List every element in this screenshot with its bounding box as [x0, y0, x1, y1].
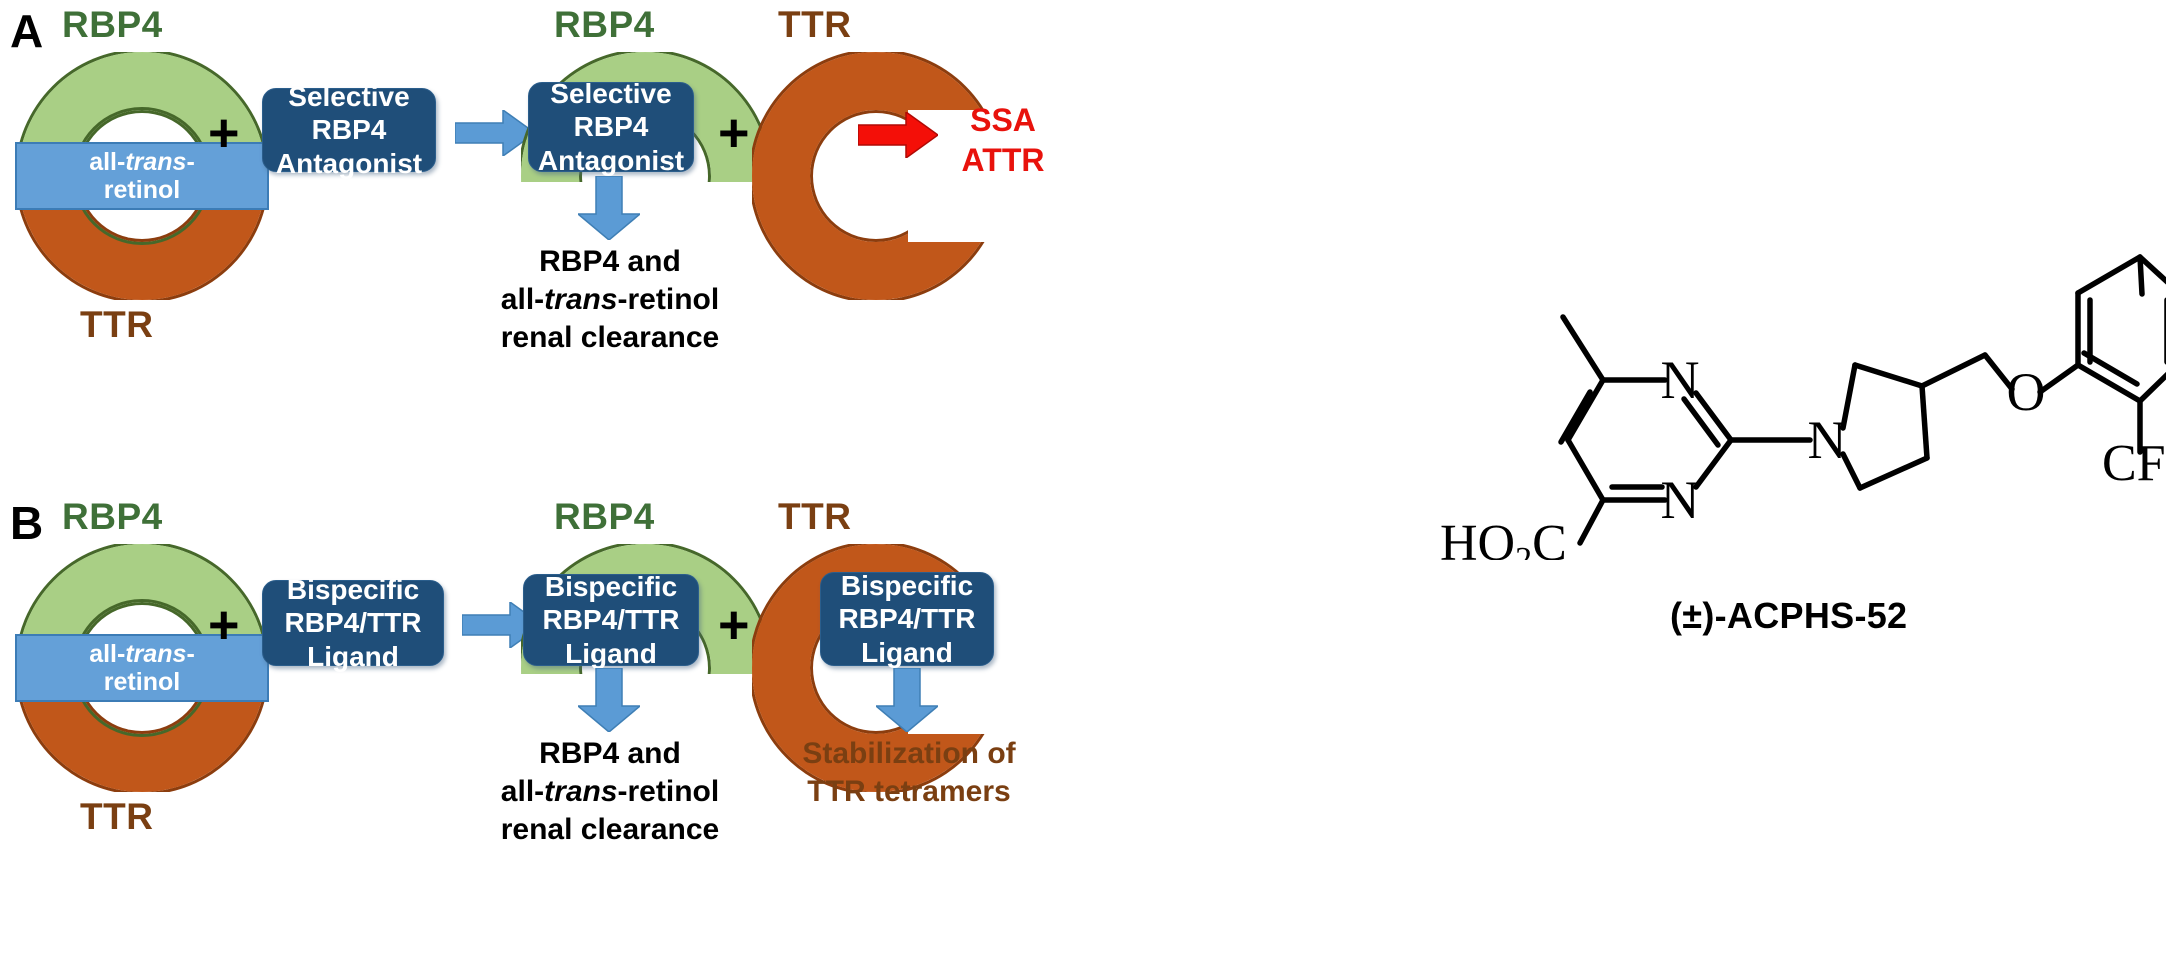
outcome-line-1: RBP4 and: [539, 737, 681, 770]
bound-drug-line-1: Bispecific: [545, 571, 677, 602]
drug-line-2: RBP4/TTR: [285, 607, 422, 638]
bound-drug-line-3: Ligand: [565, 638, 657, 669]
retinol-line2: retinol: [104, 668, 180, 696]
retinol-suffix: -: [186, 640, 194, 668]
panel-a-free-ttr-label: TTR: [778, 4, 851, 46]
outcome-line-1: RBP4 and: [539, 245, 681, 278]
panel-b-rbp4-ttr-complex: all-trans- retinol: [18, 544, 266, 792]
panel-b-bound-bispecific-box[interactable]: Bispecific RBP4/TTR Ligand: [523, 574, 699, 666]
panel-b-free-ttr-label: TTR: [778, 496, 851, 538]
panel-b-outcome-ttr-stabilization: Stabilization of TTR tetramers: [778, 735, 1040, 811]
outcome-line-2-suffix: -retinol: [618, 775, 720, 808]
stabilization-line-1: Stabilization of: [802, 737, 1015, 770]
panel-b-bound-rbp4-label: RBP4: [554, 496, 655, 538]
drug-line-1: Bispecific: [287, 574, 419, 605]
panel-a-plus-2: +: [718, 106, 750, 160]
acphs-52-structure: N N N O HO2C CF3: [1440, 140, 2166, 560]
outcome-line-2-italic: trans: [544, 283, 617, 316]
stabilization-line-2: TTR tetramers: [807, 775, 1010, 808]
panel-a-rbp4-label: RBP4: [62, 4, 163, 46]
panel-a-plus-1: +: [208, 106, 240, 160]
retinol-prefix: all-: [89, 640, 125, 668]
panel-a-antagonist-box[interactable]: Selective RBP4 Antagonist: [262, 88, 436, 172]
retinol-italic: trans: [125, 148, 186, 176]
ttr-drug-line-3: Ligand: [861, 637, 953, 668]
panel-b-outcome-renal-clearance: RBP4 and all-trans-retinol renal clearan…: [480, 735, 740, 848]
bound-drug-line-2: RBP4/TTR: [543, 604, 680, 635]
retinol-italic: trans: [125, 640, 186, 668]
attr-line: ATTR: [962, 142, 1045, 178]
drug-line-3: Ligand: [307, 641, 399, 672]
panel-a-bound-rbp4-label: RBP4: [554, 4, 655, 46]
panel-a-outcome-ssa-attr: SSA ATTR: [918, 100, 1088, 181]
bound-drug-line-3: Antagonist: [538, 145, 684, 176]
pyrimidine-n1-label: N: [1661, 350, 1700, 410]
ether-o-label: O: [2007, 362, 2046, 422]
bound-drug-line-2: RBP4: [574, 111, 649, 142]
compound-name: (±)-ACPHS-52: [1670, 595, 1907, 637]
outcome-line-2-italic: trans: [544, 775, 617, 808]
panel-a-ttr-label: TTR: [80, 304, 153, 346]
ssa-line: SSA: [970, 102, 1036, 138]
pyrrolidine-n-label: N: [1808, 410, 1847, 470]
carboxyl-label: HO2C: [1440, 515, 1567, 560]
ttr-drug-line-2: RBP4/TTR: [839, 603, 976, 634]
outcome-line-2-suffix: -retinol: [618, 283, 720, 316]
drug-line-1: Selective: [288, 81, 409, 112]
panel-b-bispecific-box[interactable]: Bispecific RBP4/TTR Ligand: [262, 580, 444, 666]
outcome-line-2-prefix: all-: [501, 283, 544, 316]
panel-b-plus-2: +: [718, 598, 750, 652]
outcome-line-3: renal clearance: [501, 813, 719, 846]
drug-line-2: RBP4: [312, 114, 387, 145]
panel-a-outcome-renal-clearance: RBP4 and all-trans-retinol renal clearan…: [480, 243, 740, 356]
panel-b-ttr-label: TTR: [80, 796, 153, 838]
panel-b-plus-1: +: [208, 598, 240, 652]
panel-a-arrow-down: [578, 176, 640, 240]
retinol-prefix: all-: [89, 148, 125, 176]
ttr-drug-line-1: Bispecific: [841, 570, 973, 601]
panel-b-rbp4-label: RBP4: [62, 496, 163, 538]
pyrimidine-n3-label: N: [1661, 470, 1700, 530]
retinol-suffix: -: [186, 148, 194, 176]
drug-line-3: Antagonist: [276, 148, 422, 179]
panel-b-ttr-bound-bispecific-box[interactable]: Bispecific RBP4/TTR Ligand: [820, 572, 994, 666]
retinol-line2: retinol: [104, 176, 180, 204]
trifluoromethyl-label: CF3: [2102, 435, 2166, 500]
outcome-line-2-prefix: all-: [501, 775, 544, 808]
bound-drug-line-1: Selective: [550, 78, 671, 109]
panel-a-bound-antagonist-box[interactable]: Selective RBP4 Antagonist: [528, 82, 694, 172]
panel-letter-b: B: [10, 500, 43, 546]
panel-b-arrow-down-right: [876, 668, 938, 732]
panel-b-arrow-down-left: [578, 668, 640, 732]
panel-a-rbp4-ttr-complex: all-trans- retinol: [18, 52, 266, 300]
panel-letter-a: A: [10, 8, 43, 54]
outcome-line-3: renal clearance: [501, 321, 719, 354]
